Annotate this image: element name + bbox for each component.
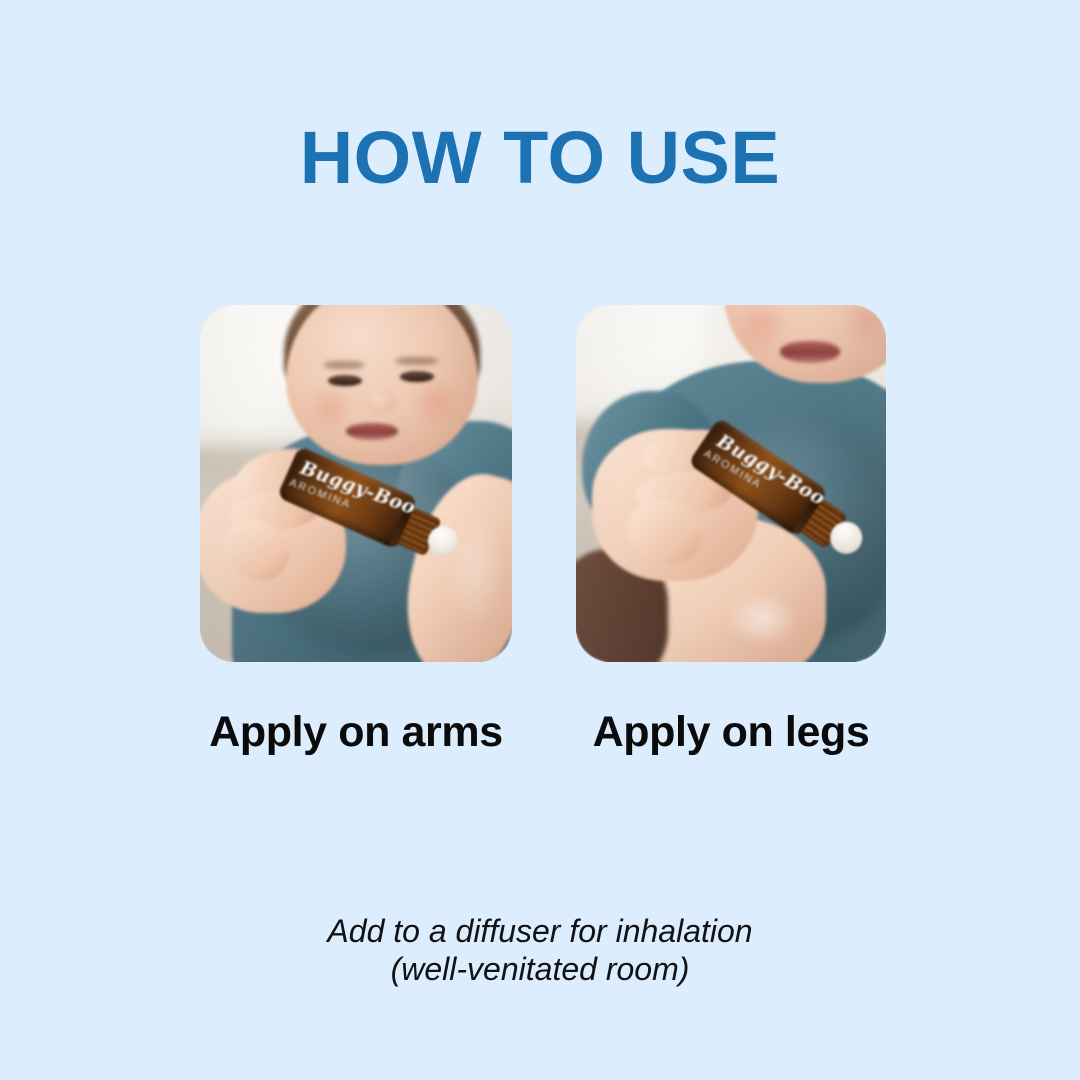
- knee-sheen: [726, 591, 800, 647]
- child-mouth: [780, 341, 840, 363]
- caption-apply-on-legs: Apply on legs: [576, 706, 886, 758]
- footnote-line-2: (well-venitated room): [0, 950, 1080, 988]
- child-cheek-right: [412, 381, 464, 425]
- caption-apply-on-arms: Apply on arms: [200, 706, 512, 758]
- step-photo-card-legs[interactable]: Buggy-Boo AROMINA: [576, 305, 886, 662]
- step-photo-row: Buggy-Boo AROMINA: [200, 305, 886, 662]
- child-brow-left: [324, 361, 364, 369]
- child-mouth: [346, 423, 398, 440]
- how-to-use-infographic: HOW TO USE: [0, 0, 1080, 1080]
- footnote-line-1: Add to a diffuser for inhalation: [0, 912, 1080, 950]
- child-brow-right: [396, 357, 438, 365]
- footnote: Add to a diffuser for inhalation (well-v…: [0, 912, 1080, 988]
- photo-scene-arms: Buggy-Boo AROMINA: [200, 305, 512, 662]
- page-title: HOW TO USE: [0, 118, 1080, 198]
- child-nose: [366, 389, 396, 415]
- child-cheek-left: [304, 387, 356, 431]
- step-photo-card-arms[interactable]: Buggy-Boo AROMINA: [200, 305, 512, 662]
- child-eye-left: [328, 375, 362, 386]
- photo-scene-legs: Buggy-Boo AROMINA: [576, 305, 886, 662]
- child-eye-right: [400, 371, 434, 382]
- step-caption-row: Apply on arms Apply on legs: [200, 706, 886, 758]
